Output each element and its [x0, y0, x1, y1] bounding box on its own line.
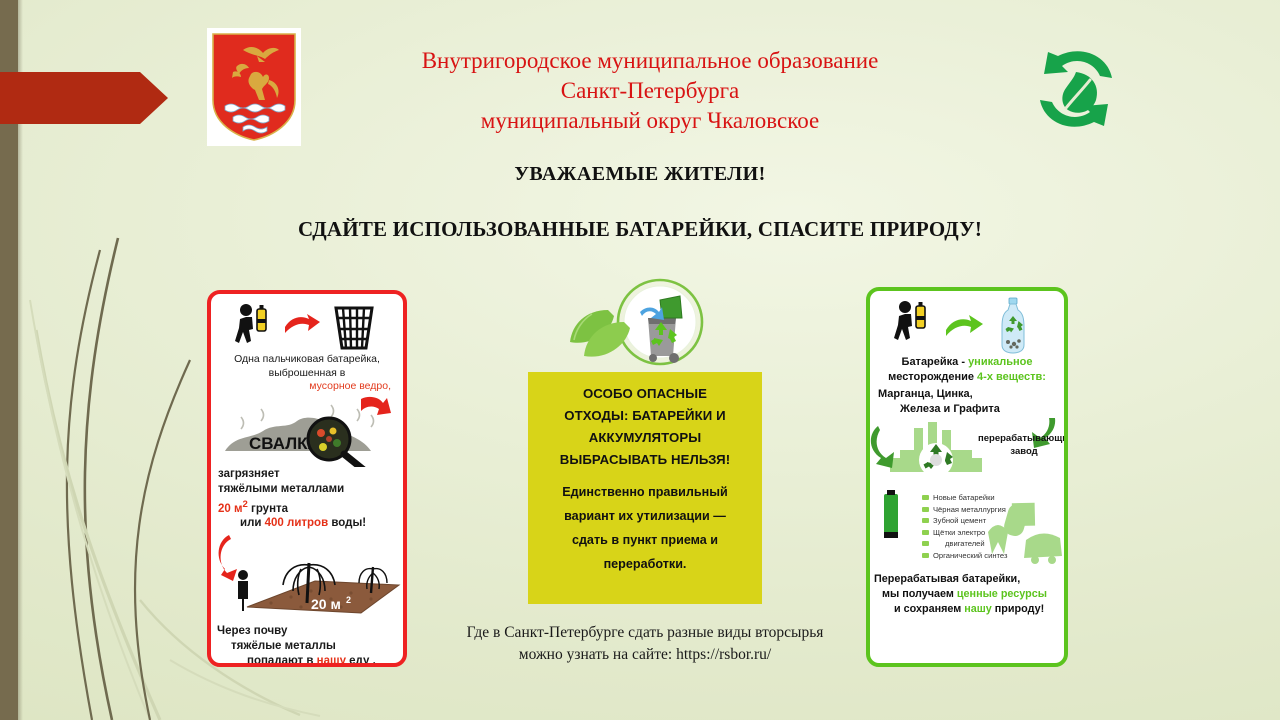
hazard-body-line-1: Единственно правильный [538, 480, 752, 504]
recycling-plant-illustration: перерабатывающий завод [870, 418, 1064, 488]
pr-substances-line-2: Железа и Графита [878, 402, 1064, 417]
pr-text3-line-1: Перерабатывая батарейки, [874, 572, 1064, 587]
pl-text2-line1: загрязняет [218, 468, 280, 480]
pr-text3-line-2-accent: ценные ресурсы [957, 588, 1047, 600]
pr-text1-line1-accent: уникальное [968, 356, 1032, 368]
svg-text:20 м: 20 м [311, 596, 341, 612]
pl-text1-line3: мусорное ведро, [217, 380, 397, 394]
landfill-illustration: СВАЛКА [211, 395, 403, 467]
poster-right-battery-value: Батарейка - уникальное месторождение 4-х… [866, 287, 1068, 667]
plant-label: перерабатывающий завод [978, 432, 1068, 458]
caption-url[interactable]: https://rsbor.ru/ [676, 646, 771, 663]
pr-text1-line2-accent: 4-х веществ: [977, 371, 1046, 383]
list-item: Зубной цемент [922, 515, 1007, 527]
green-arrow-icon [944, 314, 984, 340]
coat-of-arms-chkalovskoe [207, 28, 301, 146]
greeting-banner: УВАЖАЕМЫЕ ЖИТЕЛИ! [240, 163, 1040, 186]
page-title: Внутригородское муниципальное образовани… [330, 46, 970, 136]
poster-right-text-3: Перерабатывая батарейки, мы получаем цен… [870, 572, 1064, 617]
pr-text3-line-3-pre: и сохраняем [894, 603, 964, 615]
pl-text2-water-value: 400 литров [265, 517, 329, 529]
caption-line-2-text: можно узнать на сайте: [519, 646, 676, 663]
caption-line-1: Где в Санкт-Петербурге сдать разные виды… [467, 624, 824, 641]
slide-canvas: Внутригородское муниципальное образовани… [0, 0, 1280, 720]
hazard-body-line-3: сдать в пункт приема и [538, 528, 752, 552]
trash-basket-icon [333, 304, 375, 350]
poster-right-substances: Марганца, Цинка, Железа и Графита [870, 387, 1064, 417]
person-with-battery-icon [892, 300, 934, 348]
pr-text1-line2-pre: месторождение [888, 371, 977, 383]
pl-text3-line3-pre: попадают в [247, 655, 317, 667]
pr-text3-line-2-pre: мы получаем [882, 588, 957, 600]
list-item: Новые батарейки [922, 492, 1007, 504]
red-arrow-banner [0, 72, 168, 124]
poster-left-text-3: Через почву тяжёлые металлы попадают в н… [211, 624, 403, 667]
site-caption: Где в Санкт-Петербурге сдать разные виды… [420, 622, 870, 666]
pl-text2-area-unit: грунта [248, 502, 288, 514]
plant-label-line-1: перерабатывающий [978, 432, 1068, 445]
hazard-heading-line-2: ОТХОДЫ: БАТАРЕЙКИ И [538, 405, 752, 427]
hazard-body-line-4: переработки. [538, 552, 752, 576]
products-list: Новые батарейки Чёрная металлургия Зубно… [922, 492, 1007, 562]
pl-text1-line2: выброшенная в [217, 367, 397, 381]
pl-text3-line3-post: еду . [346, 655, 376, 667]
list-item: Щётки электро [922, 527, 1007, 539]
hazard-heading-line-1: ОСОБО ОПАСНЫЕ [538, 383, 752, 405]
pl-text2-water-pre: или [240, 517, 265, 529]
poster-left-text-1: Одна пальчиковая батарейка, выброшенная … [211, 353, 403, 394]
poster-right-icon-row [870, 297, 1064, 355]
hazard-heading-line-4: ВЫБРАСЫВАТЬ НЕЛЬЗЯ! [538, 449, 752, 471]
red-arrow-icon [283, 313, 321, 339]
svg-text:2: 2 [346, 595, 351, 605]
pl-text3-line2: тяжёлые металлы [217, 639, 403, 654]
recycle-bin-leaves-icon [556, 276, 736, 372]
pl-text2-area-value: 20 м [218, 502, 243, 514]
list-item: Органический синтез [922, 550, 1007, 562]
list-item-continuation: двигателей [922, 538, 1007, 550]
poster-left-battery-harm: Одна пальчиковая батарейка, выброшенная … [207, 290, 407, 667]
hazard-heading-line-3: АККУМУЛЯТОРЫ [538, 427, 752, 449]
page-title-line-3: муниципальный округ Чкаловское [330, 106, 970, 136]
poster-right-text-1: Батарейка - уникальное месторождение 4-х… [870, 355, 1064, 385]
poster-right-products-area: Новые батарейки Чёрная металлургия Зубно… [870, 488, 1064, 572]
pl-text2-line2: тяжёлыми металлами [218, 482, 403, 497]
hazard-sign-body: Единственно правильный вариант их утилиз… [538, 480, 752, 576]
call-to-action-banner: СДАЙТЕ ИСПОЛЬЗОВАННЫЕ БАТАРЕЙКИ, СПАСИТЕ… [200, 217, 1080, 242]
page-title-line-1: Внутригородское муниципальное образовани… [330, 46, 970, 76]
pr-text1-line1-pre: Батарейка - [902, 356, 969, 368]
pl-text2-water-post: воды! [328, 517, 366, 529]
pl-text1-line1: Одна пальчиковая батарейка, [234, 353, 380, 365]
page-title-line-2: Санкт-Петербурга [330, 76, 970, 106]
pl-text3-line1: Через почву [217, 625, 287, 637]
pl-text3-line3-accent: нашу [317, 655, 346, 667]
pr-substances-line-1: Марганца, Цинка, [878, 388, 973, 400]
hazard-warning-sign: ОСОБО ОПАСНЫЕ ОТХОДЫ: БАТАРЕЙКИ И АККУМУ… [528, 372, 762, 604]
recycle-leaf-logo [1028, 40, 1124, 138]
pr-text3-line-3-post: природу! [992, 603, 1044, 615]
pr-text3-line-3-accent: нашу [964, 603, 992, 615]
list-item: Чёрная металлургия [922, 504, 1007, 516]
person-with-battery-icon [233, 303, 275, 351]
poster-left-text-2: загрязняет тяжёлыми металлами 20 м2 грун… [211, 467, 403, 532]
poster-left-icon-row [211, 301, 403, 353]
plant-label-line-2: завод [978, 445, 1068, 458]
soil-field-illustration: 20 м 2 [211, 529, 403, 624]
hazard-sign-heading: ОСОБО ОПАСНЫЕ ОТХОДЫ: БАТАРЕЙКИ И АККУМУ… [538, 383, 752, 471]
hazard-body-line-2: вариант их утилизации — [538, 504, 752, 528]
plastic-bottle-icon [996, 297, 1030, 355]
